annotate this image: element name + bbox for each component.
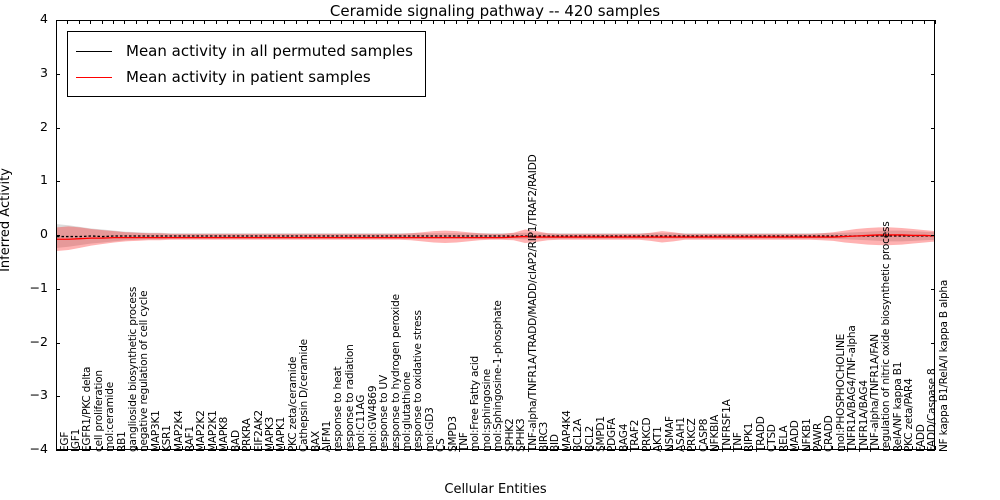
legend-swatch-permuted xyxy=(76,51,112,52)
x-tick-mark xyxy=(364,446,365,450)
x-tick-mark xyxy=(330,446,331,450)
x-tick-mark xyxy=(284,20,285,24)
x-tick-mark xyxy=(250,20,251,24)
x-tick-mark xyxy=(398,20,399,24)
x-tick-mark xyxy=(844,446,845,450)
x-tick-mark xyxy=(672,446,673,450)
x-tick-mark xyxy=(855,20,856,24)
x-tick-mark xyxy=(216,446,217,450)
x-tick-mark xyxy=(102,20,103,24)
y-tick-mark xyxy=(56,74,60,75)
x-tick-mark xyxy=(558,20,559,24)
x-tick-mark xyxy=(524,446,525,450)
x-tick-mark xyxy=(775,20,776,24)
x-tick-mark xyxy=(889,20,890,24)
y-tick-label: 0 xyxy=(8,228,48,241)
x-tick-mark xyxy=(535,20,536,24)
x-tick-mark xyxy=(581,20,582,24)
x-tick-mark xyxy=(387,446,388,450)
x-tick-mark xyxy=(821,20,822,24)
legend-label-permuted: Mean activity in all permuted samples xyxy=(126,42,413,60)
chart-title: Ceramide signaling pathway -- 420 sample… xyxy=(55,2,935,20)
x-tick-mark xyxy=(935,446,936,450)
x-tick-mark xyxy=(901,20,902,24)
x-tick-mark xyxy=(490,20,491,24)
x-tick-mark xyxy=(501,446,502,450)
x-tick-mark xyxy=(193,20,194,24)
x-tick-mark xyxy=(136,446,137,450)
figure-canvas: Ceramide signaling pathway -- 420 sample… xyxy=(0,0,1000,500)
x-tick-mark xyxy=(912,20,913,24)
x-tick-mark xyxy=(513,20,514,24)
x-tick-mark xyxy=(604,446,605,450)
x-tick-mark xyxy=(650,446,651,450)
x-tick-mark xyxy=(935,20,936,24)
x-tick-mark xyxy=(741,20,742,24)
legend-entry: Mean activity in all permuted samples xyxy=(76,38,413,64)
y-tick-mark xyxy=(56,128,60,129)
x-tick-mark xyxy=(798,446,799,450)
x-tick-mark xyxy=(650,20,651,24)
y-tick-label: −3 xyxy=(8,389,48,402)
x-tick-mark xyxy=(273,20,274,24)
x-tick-mark xyxy=(398,446,399,450)
x-tick-mark xyxy=(261,20,262,24)
x-tick-mark xyxy=(353,446,354,450)
x-tick-mark xyxy=(467,20,468,24)
x-tick-mark xyxy=(113,20,114,24)
x-tick-mark xyxy=(730,20,731,24)
x-tick-mark xyxy=(513,446,514,450)
x-tick-mark xyxy=(741,446,742,450)
x-tick-mark xyxy=(319,446,320,450)
x-tick-mark xyxy=(410,446,411,450)
x-tick-mark xyxy=(787,446,788,450)
x-tick-mark xyxy=(182,446,183,450)
x-tick-mark xyxy=(764,446,765,450)
x-tick-mark xyxy=(433,446,434,450)
x-tick-mark xyxy=(90,446,91,450)
x-tick-mark xyxy=(604,20,605,24)
x-tick-mark xyxy=(216,20,217,24)
x-tick-mark xyxy=(684,446,685,450)
x-tick-mark xyxy=(124,20,125,24)
x-tick-mark xyxy=(501,20,502,24)
y-tick-mark xyxy=(56,343,60,344)
legend-entry: Mean activity in patient samples xyxy=(76,64,413,90)
x-tick-mark xyxy=(524,20,525,24)
x-tick-mark xyxy=(798,20,799,24)
x-tick-mark xyxy=(307,20,308,24)
x-tick-mark xyxy=(113,446,114,450)
x-tick-mark xyxy=(924,20,925,24)
x-tick-mark xyxy=(627,20,628,24)
x-tick-mark xyxy=(855,446,856,450)
x-tick-mark xyxy=(319,20,320,24)
x-tick-mark xyxy=(844,20,845,24)
x-tick-mark xyxy=(684,20,685,24)
x-tick-mark xyxy=(695,446,696,450)
y-tick-label: 4 xyxy=(8,13,48,26)
x-tick-mark xyxy=(821,446,822,450)
x-tick-mark xyxy=(227,446,228,450)
x-tick-mark xyxy=(147,20,148,24)
x-tick-mark xyxy=(764,20,765,24)
x-tick-mark xyxy=(775,446,776,450)
x-tick-mark xyxy=(867,20,868,24)
x-tick-mark xyxy=(250,446,251,450)
y-tick-mark xyxy=(56,289,60,290)
x-tick-mark xyxy=(478,446,479,450)
x-tick-mark xyxy=(867,446,868,450)
x-tick-mark xyxy=(79,446,80,450)
x-tick-mark xyxy=(227,20,228,24)
x-tick-mark xyxy=(707,446,708,450)
x-tick-mark xyxy=(695,20,696,24)
x-tick-mark xyxy=(809,446,810,450)
x-tick-mark xyxy=(615,20,616,24)
x-tick-mark xyxy=(273,446,274,450)
x-tick-mark xyxy=(444,446,445,450)
x-tick-mark xyxy=(718,20,719,24)
x-tick-mark xyxy=(912,446,913,450)
y-tick-label: −4 xyxy=(8,443,48,456)
x-tick-mark xyxy=(261,446,262,450)
x-tick-mark xyxy=(102,446,103,450)
x-tick-mark xyxy=(341,20,342,24)
x-tick-mark xyxy=(239,20,240,24)
x-tick-mark xyxy=(547,446,548,450)
x-tick-mark xyxy=(535,446,536,450)
x-tick-mark xyxy=(547,20,548,24)
legend-label-patient: Mean activity in patient samples xyxy=(126,68,371,86)
x-tick-mark xyxy=(136,20,137,24)
y-tick-label: −1 xyxy=(8,282,48,295)
x-tick-mark xyxy=(56,446,57,450)
legend: Mean activity in all permuted samples Me… xyxy=(67,31,426,97)
x-tick-mark xyxy=(638,20,639,24)
y-tick-label: 1 xyxy=(8,174,48,187)
x-tick-mark xyxy=(490,446,491,450)
x-tick-mark xyxy=(170,446,171,450)
x-tick-mark xyxy=(124,446,125,450)
y-tick-label: 3 xyxy=(8,67,48,80)
x-tick-mark xyxy=(752,446,753,450)
legend-swatch-patient xyxy=(76,77,112,78)
x-tick-mark xyxy=(661,20,662,24)
y-tick-mark xyxy=(931,128,935,129)
x-tick-mark xyxy=(147,446,148,450)
x-tick-mark xyxy=(809,20,810,24)
x-tick-mark xyxy=(364,20,365,24)
x-tick-mark xyxy=(570,446,571,450)
x-tick-mark xyxy=(456,446,457,450)
x-tick-mark xyxy=(467,446,468,450)
x-tick-mark xyxy=(615,446,616,450)
x-tick-mark xyxy=(456,20,457,24)
x-tick-mark xyxy=(204,20,205,24)
x-tick-mark xyxy=(707,20,708,24)
y-tick-mark xyxy=(56,396,60,397)
x-tick-mark xyxy=(627,446,628,450)
x-tick-mark xyxy=(478,20,479,24)
x-tick-mark xyxy=(410,20,411,24)
x-tick-mark xyxy=(558,446,559,450)
x-tick-mark xyxy=(581,446,582,450)
x-tick-mark xyxy=(296,446,297,450)
x-tick-mark xyxy=(353,20,354,24)
x-tick-mark xyxy=(284,446,285,450)
x-tick-mark xyxy=(376,446,377,450)
x-tick-mark xyxy=(570,20,571,24)
x-tick-mark xyxy=(159,446,160,450)
x-tick-mark xyxy=(593,20,594,24)
y-tick-label: −2 xyxy=(8,336,48,349)
x-tick-label: NF kappa B1/RelA/I kappa B alpha xyxy=(939,280,1000,452)
x-tick-mark xyxy=(307,446,308,450)
x-tick-mark xyxy=(433,20,434,24)
x-tick-mark xyxy=(878,20,879,24)
x-tick-mark xyxy=(832,20,833,24)
x-tick-mark xyxy=(421,20,422,24)
x-tick-mark xyxy=(159,20,160,24)
x-tick-mark xyxy=(67,20,68,24)
x-tick-mark xyxy=(239,446,240,450)
y-tick-mark xyxy=(56,235,60,236)
x-tick-mark xyxy=(593,446,594,450)
x-tick-mark xyxy=(56,20,57,24)
x-tick-mark xyxy=(878,446,879,450)
y-tick-label: 2 xyxy=(8,121,48,134)
x-tick-mark xyxy=(730,446,731,450)
x-tick-mark xyxy=(832,446,833,450)
x-tick-mark xyxy=(661,446,662,450)
x-tick-mark xyxy=(672,20,673,24)
x-tick-mark xyxy=(193,446,194,450)
x-tick-mark xyxy=(444,20,445,24)
x-tick-mark xyxy=(376,20,377,24)
x-tick-mark xyxy=(67,446,68,450)
x-tick-mark xyxy=(204,446,205,450)
x-tick-mark xyxy=(330,20,331,24)
x-tick-mark xyxy=(90,20,91,24)
x-tick-mark xyxy=(901,446,902,450)
x-tick-mark xyxy=(752,20,753,24)
x-tick-mark xyxy=(79,20,80,24)
x-tick-mark xyxy=(421,446,422,450)
y-tick-mark xyxy=(931,74,935,75)
x-tick-mark xyxy=(341,446,342,450)
y-tick-mark xyxy=(56,181,60,182)
x-tick-mark xyxy=(296,20,297,24)
x-tick-mark xyxy=(718,446,719,450)
x-tick-mark xyxy=(638,446,639,450)
x-tick-mark xyxy=(924,446,925,450)
x-tick-mark xyxy=(387,20,388,24)
x-tick-mark xyxy=(182,20,183,24)
x-axis-label: Cellular Entities xyxy=(56,482,935,497)
x-tick-mark xyxy=(170,20,171,24)
x-tick-mark xyxy=(889,446,890,450)
x-tick-mark xyxy=(787,20,788,24)
